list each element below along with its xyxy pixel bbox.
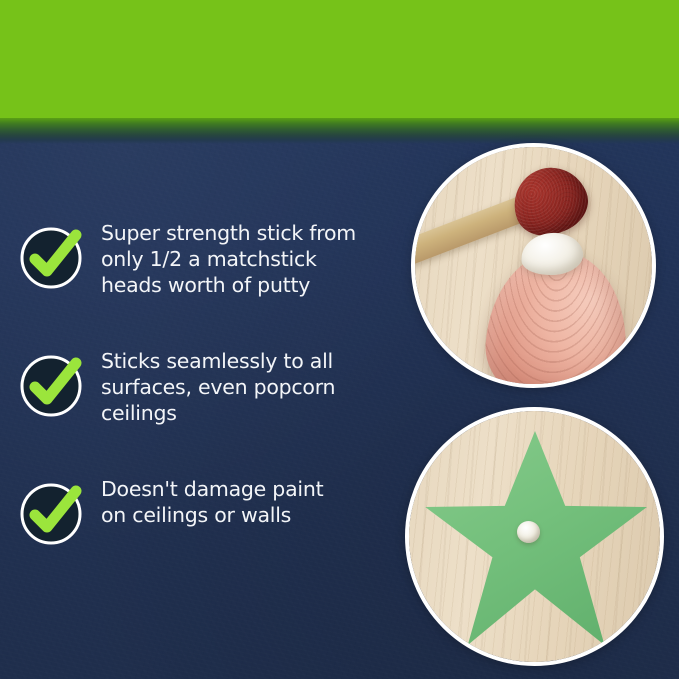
list-item: Doesn't damage paint on ceilings or wall…	[0, 466, 400, 548]
header-gradient-fade	[0, 118, 679, 144]
product-feature-graphic: No Mess, No Stress Easy install putty sa…	[0, 0, 679, 679]
list-item-label: Doesn't damage paint on ceilings or wall…	[101, 476, 400, 528]
list-item-label: Super strength stick from only 1/2 a mat…	[101, 220, 400, 298]
check-circle-icon	[18, 478, 88, 548]
check-circle-icon	[18, 350, 88, 420]
header-band	[0, 0, 679, 119]
list-item-label: Sticks seamlessly to all surfaces, even …	[101, 348, 400, 426]
check-circle-icon	[18, 222, 88, 292]
list-item: Super strength stick from only 1/2 a mat…	[0, 210, 400, 298]
green-star-photo	[405, 407, 664, 666]
benefit-list: Super strength stick from only 1/2 a mat…	[0, 210, 400, 548]
putty-dot	[517, 521, 540, 543]
matchstick-putty-photo	[411, 143, 656, 388]
list-item: Sticks seamlessly to all surfaces, even …	[0, 338, 400, 426]
